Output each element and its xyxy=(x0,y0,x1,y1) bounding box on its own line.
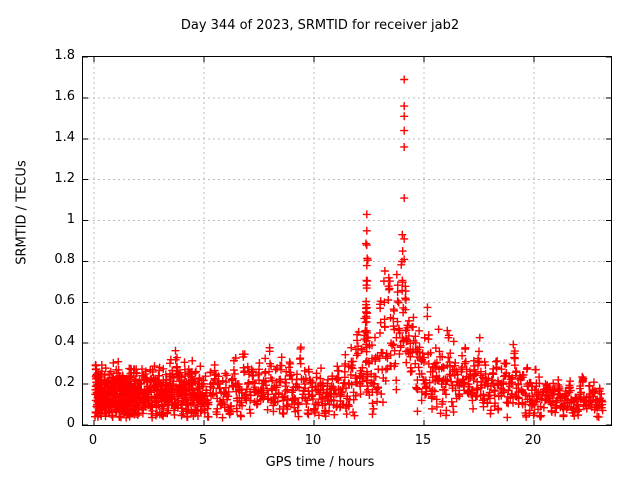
x-tick-label: 5 xyxy=(173,434,233,447)
scatter-plot-svg xyxy=(83,57,611,425)
plot-area xyxy=(82,56,612,426)
x-tick-label: 20 xyxy=(503,434,563,447)
x-tick-label: 15 xyxy=(393,434,453,447)
chart-figure: Day 344 of 2023, SRMTID for receiver jab… xyxy=(0,0,640,480)
x-tick-label: 10 xyxy=(283,434,343,447)
x-tick-label: 0 xyxy=(63,434,123,447)
data-points xyxy=(91,75,607,421)
